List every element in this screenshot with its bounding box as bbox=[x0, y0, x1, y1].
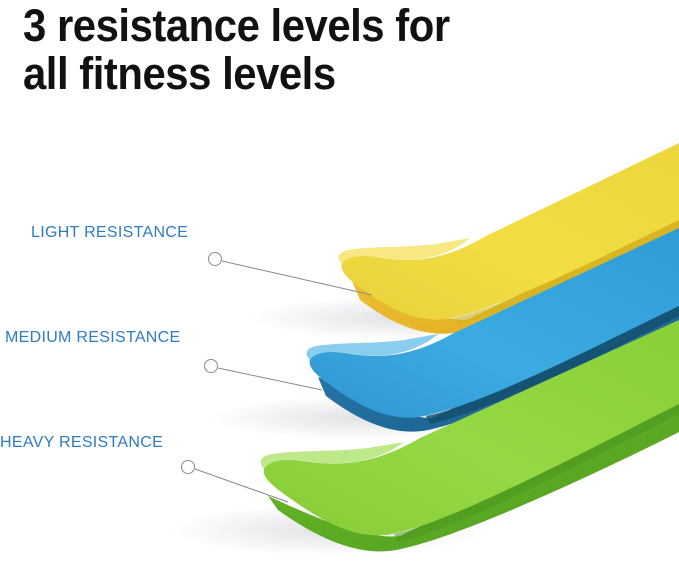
product-infographic: 3 resistance levels for all fitness leve… bbox=[0, 0, 679, 579]
page-title: 3 resistance levels for all fitness leve… bbox=[23, 2, 581, 98]
callout-label-heavy: HEAVY RESISTANCE bbox=[0, 434, 163, 452]
callout-label-medium: MEDIUM RESISTANCE bbox=[5, 329, 180, 347]
callout-label-light: LIGHT RESISTANCE bbox=[31, 224, 188, 242]
